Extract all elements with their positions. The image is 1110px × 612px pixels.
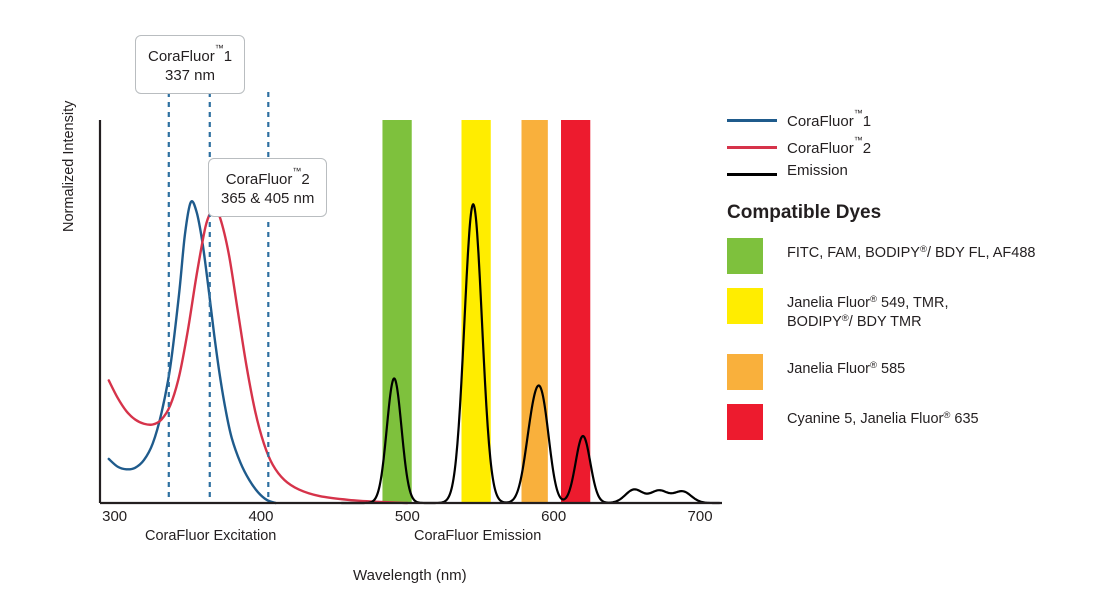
registered-mark: ® — [943, 410, 950, 421]
compatible-dyes-list: FITC, FAM, BODIPY®/ BDY FL, AF488Janelia… — [727, 238, 1097, 454]
annotation-corafluor1-title: CoraFluor™1 — [148, 43, 232, 66]
dye-item: Janelia Fluor® 549, TMR,BODIPY®/ BDY TMR — [727, 288, 1097, 354]
excitation-curve — [109, 201, 276, 503]
dye-item: Cyanine 5, Janelia Fluor® 635 — [727, 404, 1097, 454]
legend-label-corafluor2: CoraFluor™2 — [787, 135, 871, 157]
legend-label-corafluor1: CoraFluor™1 — [787, 108, 871, 130]
series-legend: CoraFluor™1 CoraFluor™2 Emission — [727, 108, 1097, 189]
dye-color-swatch — [727, 404, 763, 440]
annotation-corafluor2: CoraFluor™2 365 & 405 nm — [208, 158, 327, 217]
x-tick-400: 400 — [231, 508, 291, 525]
x-tick-600: 600 — [524, 508, 584, 525]
excitation-curve — [109, 208, 408, 503]
dye-color-swatch — [727, 288, 763, 324]
dye-label: Cyanine 5, Janelia Fluor® 635 — [787, 410, 979, 429]
legend-item-corafluor1: CoraFluor™1 — [727, 108, 1097, 135]
dye-label-line: Janelia Fluor® 549, TMR, — [787, 294, 948, 313]
excitation-range-label: CoraFluor Excitation — [145, 528, 276, 544]
channel-band — [382, 120, 411, 503]
dye-label-line: Janelia Fluor® 585 — [787, 360, 905, 379]
dye-color-swatch — [727, 354, 763, 390]
y-axis-title: Normalized Intensity — [61, 101, 77, 232]
x-tick-300: 300 — [85, 508, 145, 525]
dye-label: Janelia Fluor® 585 — [787, 360, 905, 379]
dye-label: Janelia Fluor® 549, TMR,BODIPY®/ BDY TMR — [787, 294, 948, 333]
annotation-corafluor2-value: 365 & 405 nm — [221, 189, 314, 208]
dye-item: FITC, FAM, BODIPY®/ BDY FL, AF488 — [727, 238, 1097, 288]
legend-item-emission: Emission — [727, 162, 1097, 189]
registered-mark: ® — [870, 294, 877, 305]
registered-mark: ® — [920, 244, 927, 255]
dye-item: Janelia Fluor® 585 — [727, 354, 1097, 404]
x-tick-500: 500 — [377, 508, 437, 525]
x-axis-title: Wavelength (nm) — [353, 567, 467, 584]
annotation-corafluor2-title: CoraFluor™2 — [221, 166, 314, 189]
channel-band — [561, 120, 590, 503]
dye-label-line: FITC, FAM, BODIPY®/ BDY FL, AF488 — [787, 244, 1035, 263]
x-tick-700: 700 — [670, 508, 730, 525]
dye-label-line: Cyanine 5, Janelia Fluor® 635 — [787, 410, 979, 429]
dye-label-line: BODIPY®/ BDY TMR — [787, 313, 948, 332]
annotation-corafluor1: CoraFluor™1 337 nm — [135, 35, 245, 94]
compatible-dyes-heading: Compatible Dyes — [727, 202, 881, 224]
legend-item-corafluor2: CoraFluor™2 — [727, 135, 1097, 162]
dye-label: FITC, FAM, BODIPY®/ BDY FL, AF488 — [787, 244, 1035, 263]
annotation-corafluor1-value: 337 nm — [148, 66, 232, 85]
legend-label-emission: Emission — [787, 162, 848, 179]
spectra-figure: CoraFluor™1 337 nm CoraFluor™2 365 & 405… — [0, 0, 1110, 612]
legend-swatch-corafluor2 — [727, 146, 777, 149]
dye-color-swatch — [727, 238, 763, 274]
registered-mark: ® — [870, 360, 877, 371]
legend-panel: CoraFluor™1 CoraFluor™2 Emission Compati… — [727, 108, 1097, 189]
registered-mark: ® — [842, 313, 849, 324]
legend-swatch-emission — [727, 173, 777, 176]
legend-swatch-corafluor1 — [727, 119, 777, 122]
emission-range-label: CoraFluor Emission — [414, 528, 541, 544]
